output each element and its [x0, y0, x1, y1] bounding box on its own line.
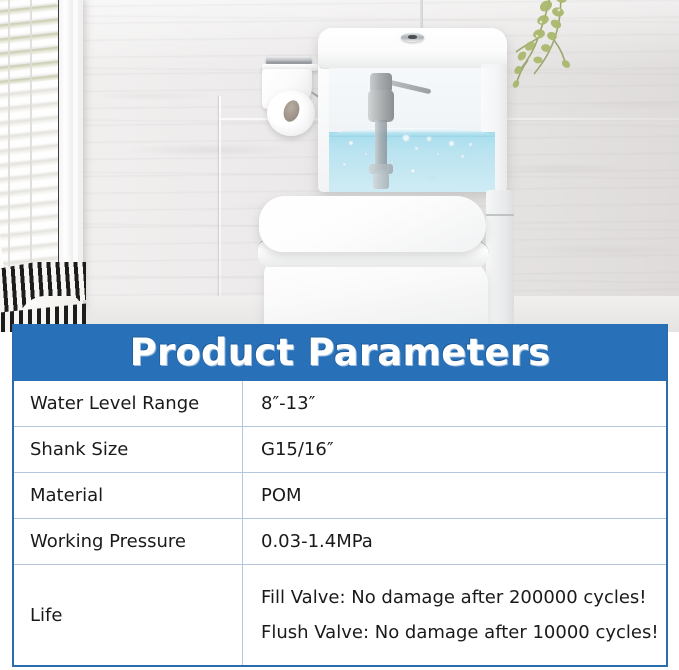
window-glass [0, 0, 58, 280]
fill-valve-body [368, 90, 394, 122]
water-bubble [468, 142, 473, 147]
tank-base-seam [486, 214, 514, 216]
water-bubble [426, 136, 432, 142]
table-row: Shank Size G15/16″ [14, 427, 666, 473]
row-value: G15/16″ [243, 427, 667, 473]
water-bubble [364, 152, 368, 156]
striped-textile [0, 262, 86, 332]
water-bubble [454, 168, 458, 172]
row-value: 8″-13″ [243, 381, 667, 427]
toilet-seat-lid [259, 196, 486, 252]
row-value: 0.03-1.4MPa [243, 519, 667, 565]
row-label: Material [14, 473, 243, 519]
water-bubble [460, 154, 465, 159]
table-row: Working Pressure 0.03-1.4MPa [14, 519, 666, 565]
water-bubble [410, 168, 416, 174]
toilet-tank [318, 28, 507, 192]
parameters-table: Water Level Range 8″-13″ Shank Size G15/… [14, 381, 666, 665]
row-label: Shank Size [14, 427, 243, 473]
toilet-bowl [264, 258, 488, 332]
table-row: Material POM [14, 473, 666, 519]
product-parameters-page: Product Parameters Water Level Range 8″-… [0, 0, 679, 670]
page-title: Product Parameters [130, 331, 551, 374]
row-value-life: Fill Valve: No damage after 200000 cycle… [243, 565, 667, 666]
water-bubble [436, 152, 440, 156]
blind-cord [30, 0, 32, 276]
life-line-flush-valve: Flush Valve: No damage after 10000 cycle… [261, 615, 666, 650]
fill-valve-cap [370, 73, 392, 91]
water-surface-line [329, 128, 495, 137]
water-bubble [448, 140, 455, 147]
flush-button-inner [408, 35, 417, 39]
product-parameters-card: Product Parameters Water Level Range 8″-… [12, 324, 668, 667]
product-parameters-header: Product Parameters [14, 324, 666, 381]
table-row: Water Level Range 8″-13″ [14, 381, 666, 427]
tank-base-side [486, 190, 514, 332]
vine-plant-icon [494, 0, 614, 120]
row-label: Working Pressure [14, 519, 243, 565]
fill-valve-shaft [375, 120, 387, 170]
table-row-life: Life Fill Valve: No damage after 200000 … [14, 565, 666, 666]
blind-cord [8, 0, 10, 276]
water-bubble [342, 162, 347, 167]
fill-valve-foot [373, 173, 389, 189]
product-lifestyle-photo [0, 0, 679, 332]
row-label: Life [14, 565, 243, 666]
water-bubble [430, 176, 434, 180]
water-bubble [414, 146, 419, 151]
life-line-fill-valve: Fill Valve: No damage after 200000 cycle… [261, 580, 666, 615]
row-value: POM [243, 473, 667, 519]
tank-water [329, 132, 495, 192]
water-bubble [348, 140, 354, 146]
row-label: Water Level Range [14, 381, 243, 427]
water-bubble [402, 134, 410, 142]
